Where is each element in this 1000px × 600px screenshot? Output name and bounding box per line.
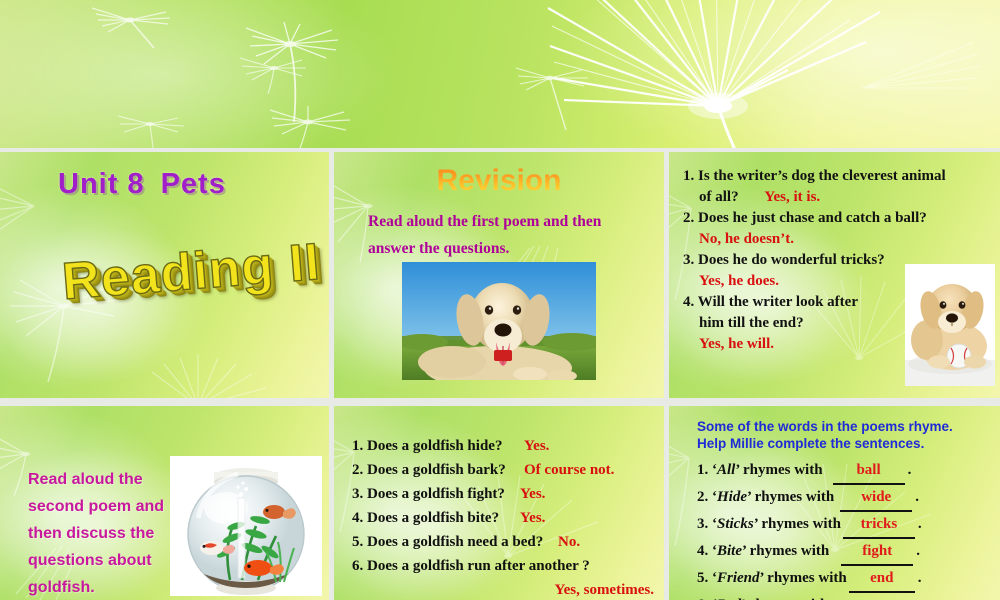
answer-text: Yes, he does. [699,273,779,289]
rhyme-answer-blank[interactable]: tricks [843,512,915,539]
answer-text: Of course not. [524,462,614,478]
period: . [916,539,920,564]
question-number: 1. [683,168,694,184]
revision-instruction: Read aloud the first poem and then answe… [368,208,636,262]
rhyme-row: 1. ‘All’ rhymes with ball. [697,458,997,485]
question-row: 1. Does a goldfish hide? Yes. [352,434,662,458]
revision-instruction-line2: answer the questions. [368,235,636,262]
goldfish-instruction-line: goldfish. [28,574,168,600]
question-row: 3. Does a goldfish fight? Yes. [352,482,662,506]
question-row: 2. Does a goldfish bark? Of course not. [352,458,662,482]
answer-text: Yes. [524,438,549,454]
period: . [913,593,917,600]
question-row: 2. Does he just chase and catch a ball? [683,208,988,229]
question-text-cont: of all? [699,189,739,205]
panel-revision[interactable]: Revision Read aloud the first poem and t… [334,152,664,398]
answer-row: No, he doesn’t. [683,229,988,250]
goldfish-question-list: 1. Does a goldfish hide? Yes. 2. Does a … [352,434,662,600]
rhyme-row: 5. ‘Friend’ rhymes with end. [697,566,997,593]
question-text-cont: him till the end? [699,315,804,331]
answer-text: No, he doesn’t. [699,231,794,247]
goldfish-instruction-line: second poem and [28,493,168,520]
period: . [915,485,919,510]
rhyme-prompt: 2. ‘Hide’ rhymes with [697,485,834,510]
rhyme-row: 6. ‘Bed’ rhymes with pet. [697,593,997,600]
question-text: 1. Does a goldfish hide? [352,434,524,458]
question-text: 3. Does a goldfish fight? [352,482,520,506]
rhyme-row: 4. ‘Bite’ rhymes with fight. [697,539,997,566]
rhyme-row: 3. ‘Sticks’ rhymes with tricks. [697,512,997,539]
question-row: 6. Does a goldfish run after another ? [352,554,662,578]
panel-rhymes[interactable]: Some of the words in the poems rhyme. He… [669,406,1000,600]
rhyme-answer-blank[interactable]: end [849,566,915,593]
goldfish-instruction-line: then discuss the [28,520,168,547]
question-text: Will the writer look after [698,294,858,310]
question-number: 2. [683,210,694,226]
dandelion-seed-icon [80,4,200,64]
rhyme-answer-blank[interactable]: fight [841,539,913,566]
rhyme-answer-blank[interactable]: wide [840,485,912,512]
page-title: Unit 8Pets [58,168,226,201]
rhyme-prompt: 1. ‘All’ rhymes with [697,458,823,483]
rhyme-prompt: 3. ‘Sticks’ rhymes with [697,512,841,537]
panel-dog-questions[interactable]: 1. Is the writer’s dog the cleverest ani… [669,152,1000,398]
question-text: 6. Does a goldfish run after another ? [352,554,590,578]
topic-label: Pets [161,168,226,200]
rhymes-heading: Some of the words in the poems rhyme. He… [697,418,997,452]
revision-instruction-line1: Read aloud the first poem and then [368,208,636,235]
rhyme-row: 2. ‘Hide’ rhymes with wide. [697,485,997,512]
question-text: 4. Does a goldfish bite? [352,506,520,530]
rhyme-prompt: 5. ‘Friend’ rhymes with [697,566,847,591]
dandelion-seed-icon [248,102,378,148]
period: . [908,458,912,483]
dandelion-seed-icon [232,48,312,98]
question-row: 4. Does a goldfish bite? Yes. [352,506,662,530]
question-text: Is the writer’s dog the cleverest animal [698,168,946,184]
question-row: 1. Is the writer’s dog the cleverest ani… [683,166,988,187]
question-row: 5. Does a goldfish need a bed? No. [352,530,662,554]
rhyme-answer-blank[interactable]: pet [838,593,910,600]
slide-thumbnail-grid: Unit 8Pets Reading II Revision [0,0,1000,600]
golden-retriever-on-grass-photo [402,262,596,380]
goldfish-instruction-line: Read aloud the [28,466,168,493]
question-number: 3. [683,252,694,268]
goldfish-instruction: Read aloud the second poem and then disc… [28,466,168,600]
goldfish-instruction-line: questions about [28,547,168,574]
answer-text: No. [558,534,580,550]
answer-text: Yes, sometimes. [554,582,654,598]
question-text: Does he do wonderful tricks? [698,252,885,268]
panel-goldfish-intro[interactable]: Read aloud the second poem and then disc… [0,406,329,600]
rhymes-heading-line1: Some of the words in the poems rhyme. [697,418,997,435]
rhyme-prompt: 6. ‘Bed’ rhymes with [697,593,828,600]
goldfish-bowl-photo [170,456,322,596]
answer-text: Yes. [520,510,545,526]
dandelion-seed-icon [862,36,992,106]
answer-row: Yes, sometimes. [352,578,662,600]
rhymes-list: 1. ‘All’ rhymes with ball. 2. ‘Hide’ rhy… [697,458,997,600]
answer-text: Yes. [520,486,545,502]
period: . [918,512,922,537]
rhyme-prompt: 4. ‘Bite’ rhymes with [697,539,829,564]
answer-text: Yes, he will. [699,336,774,352]
question-number: 4. [683,294,694,310]
unit-label: Unit 8 [58,168,145,200]
rhyme-answer-blank[interactable]: ball [833,458,905,485]
question-text: 2. Does a goldfish bark? [352,458,524,482]
rhymes-heading-line2: Help Millie complete the sentences. [697,435,997,452]
question-row-cont: of all? Yes, it is. [683,187,988,208]
dandelion-seed-icon [112,108,212,148]
golden-retriever-puppy-with-baseball-photo [905,264,995,386]
period: . [918,566,922,591]
panel-goldfish-questions[interactable]: 1. Does a goldfish hide? Yes. 2. Does a … [334,406,664,600]
question-text: 5. Does a goldfish need a bed? [352,530,558,554]
answer-text: Yes, it is. [742,189,820,205]
question-text: Does he just chase and catch a ball? [698,210,927,226]
dandelion-seed-icon [118,348,298,398]
revision-title: Revision [334,164,664,198]
header-banner [0,0,1000,148]
